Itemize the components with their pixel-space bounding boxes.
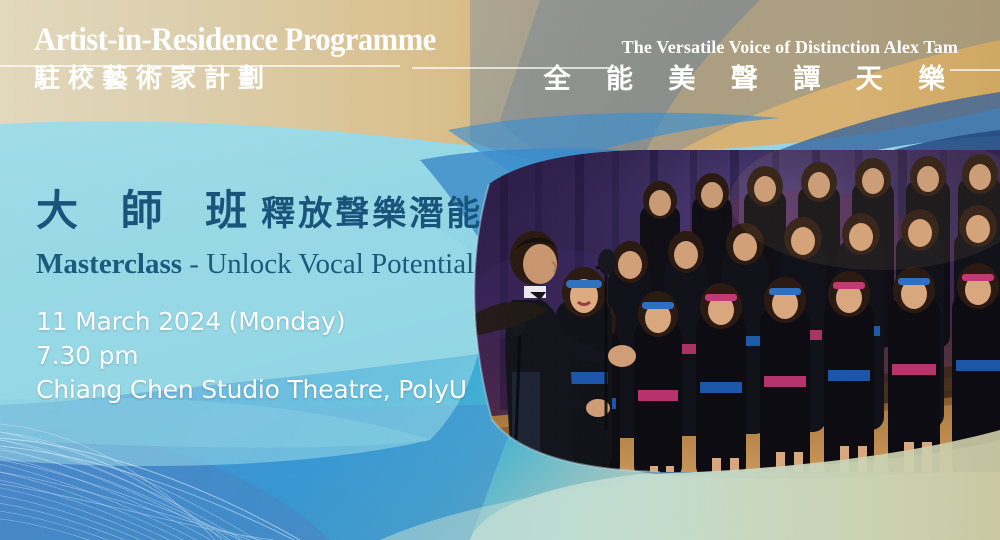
masterclass-title-en-rest: - Unlock Vocal Potential [182, 248, 474, 280]
header-right-block: The Versatile Voice of Distinction Alex … [438, 36, 958, 97]
header-left-block: Artist-in-Residence Programme 駐校藝術家計劃 [34, 22, 454, 96]
masterclass-title-zh: 大 師 班釋放聲樂潛能 [36, 186, 506, 239]
programme-title-en: Artist-in-Residence Programme [34, 22, 425, 58]
main-title-block: 大 師 班釋放聲樂潛能 Masterclass - Unlock Vocal P… [36, 186, 506, 281]
masterclass-title-zh-sub: 釋放聲樂潛能 [261, 194, 483, 234]
tagline-zh: 全 能 美 聲 譚 天 樂 [438, 63, 958, 97]
masterclass-title-en-bold: Masterclass [36, 248, 182, 280]
programme-title-zh: 駐校藝術家計劃 [34, 62, 454, 96]
masterclass-title-zh-main: 大 師 班 [36, 186, 261, 235]
event-date: 11 March 2024 (Monday) [36, 305, 496, 339]
event-venue: Chiang Chen Studio Theatre, PolyU [36, 373, 496, 407]
event-details-block: 11 March 2024 (Monday) 7.30 pm Chiang Ch… [36, 305, 496, 407]
event-time: 7.30 pm [36, 339, 496, 373]
poster-canvas: Artist-in-Residence Programme 駐校藝術家計劃 Th… [0, 0, 1000, 540]
masterclass-title-en: Masterclass - Unlock Vocal Potential [36, 247, 506, 281]
tagline-en: The Versatile Voice of Distinction Alex … [438, 36, 958, 58]
